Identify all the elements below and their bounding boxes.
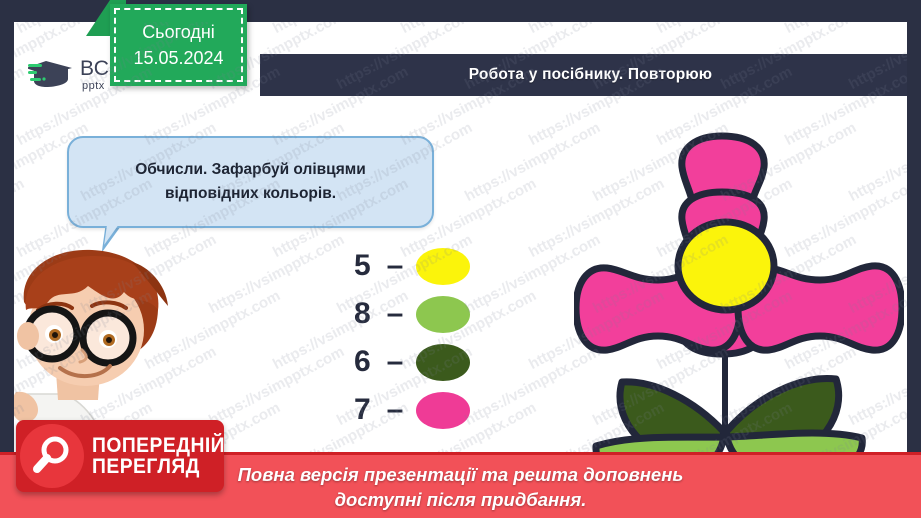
preview-badge[interactable]: ПОПЕРЕДНІЙ ПЕРЕГЛЯД	[16, 420, 224, 492]
flower-illustration	[574, 132, 904, 477]
flower-center	[678, 222, 774, 310]
legend-number: 6	[354, 345, 380, 379]
speech-line-2: відповідних кольорів.	[135, 182, 366, 206]
date-badge-value: 15.05.2024	[133, 45, 223, 71]
banner-line-2: доступні після придбання.	[238, 488, 684, 513]
legend-row: 8 –	[354, 290, 470, 338]
legend-swatch-dark-green	[416, 344, 470, 381]
legend-number: 8	[354, 297, 380, 331]
purchase-banner-text: Повна версія презентації та решта доповн…	[238, 463, 684, 513]
legend-swatch-yellow	[416, 248, 470, 285]
legend-row: 7 –	[354, 386, 470, 434]
banner-line-1: Повна версія презентації та решта доповн…	[238, 463, 684, 488]
legend-dash: –	[380, 393, 410, 427]
legend-row: 5 –	[354, 242, 470, 290]
preview-badge-line-2: ПЕРЕГЛЯД	[92, 456, 225, 477]
color-legend: 5 – 8 – 6 – 7 –	[354, 242, 470, 434]
page-title: Робота у посібнику. Повторюю	[469, 66, 713, 84]
legend-swatch-pink	[416, 392, 470, 429]
date-badge: Сьогодні 15.05.2024	[110, 4, 247, 86]
legend-dash: –	[380, 297, 410, 331]
graduation-cap-icon	[28, 55, 76, 95]
slide-stage: https://vsimpptx.comhttps://vsimpptx.com…	[0, 0, 921, 518]
legend-swatch-light-green	[416, 296, 470, 333]
legend-number: 7	[354, 393, 380, 427]
speech-bubble: Обчисли. Зафарбуй олівцями відповідних к…	[67, 136, 434, 228]
legend-row: 6 –	[354, 338, 470, 386]
legend-number: 5	[354, 249, 380, 283]
magnifier-icon	[20, 424, 84, 488]
preview-badge-line-1: ПОПЕРЕДНІЙ	[92, 435, 225, 456]
date-badge-label: Сьогодні	[142, 19, 215, 45]
speech-bubble-text: Обчисли. Зафарбуй олівцями відповідних к…	[135, 158, 366, 206]
speech-line-1: Обчисли. Зафарбуй олівцями	[135, 158, 366, 182]
legend-dash: –	[380, 345, 410, 379]
legend-dash: –	[380, 249, 410, 283]
slide-title-bar: Робота у посібнику. Повторюю	[260, 54, 907, 96]
